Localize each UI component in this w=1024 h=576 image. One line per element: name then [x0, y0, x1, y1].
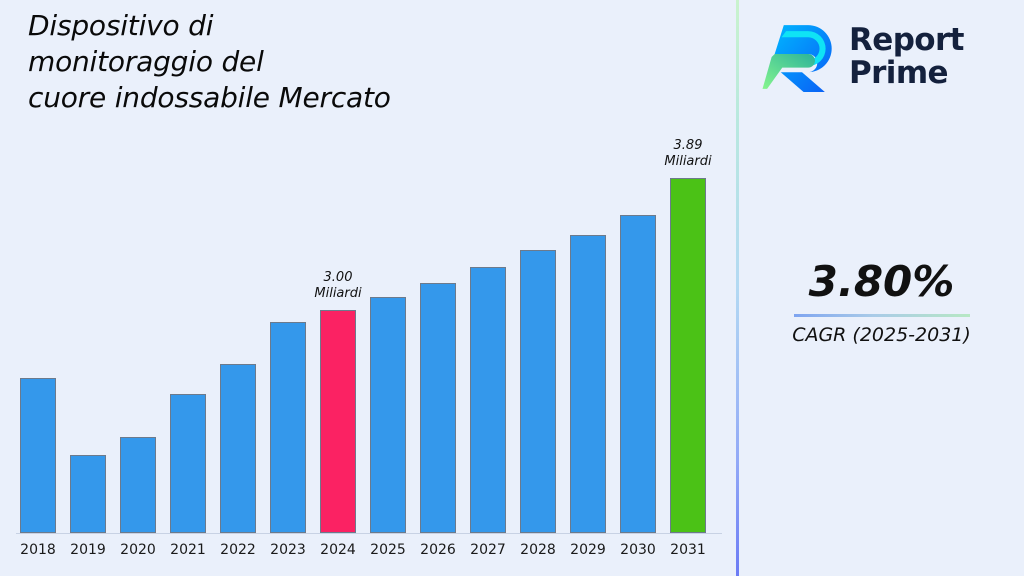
- bar-2022[interactable]: [220, 364, 256, 533]
- brand-logo: Report Prime: [761, 12, 1011, 102]
- bar-2031[interactable]: [670, 178, 706, 533]
- chart-screenshot: Dispositivo di monitoraggio del cuore in…: [0, 0, 1024, 576]
- side-panel: Report Prime 3.80% CAGR (2025-2031): [739, 0, 1024, 576]
- bar-2026[interactable]: [420, 283, 456, 533]
- x-axis-baseline: [16, 533, 722, 534]
- brand-name: Report Prime: [849, 24, 964, 90]
- bar-2023[interactable]: [270, 322, 306, 533]
- bar-2027[interactable]: [470, 267, 506, 533]
- bar-chart-plot-area: 2018201920202021202220233.00 Miliardi202…: [0, 0, 736, 576]
- chart-panel: Dispositivo di monitoraggio del cuore in…: [0, 0, 736, 576]
- bar-2018[interactable]: [20, 378, 56, 533]
- bar-2030[interactable]: [620, 215, 656, 533]
- x-tick-2031: 2031: [658, 542, 718, 558]
- bar-2019[interactable]: [70, 455, 106, 533]
- bar-2025[interactable]: [370, 297, 406, 533]
- bar-value-label-2031: 3.89 Miliardi: [633, 138, 743, 170]
- report-prime-logo-icon: [761, 19, 837, 95]
- bar-2024[interactable]: [320, 310, 356, 533]
- bar-2028[interactable]: [520, 250, 556, 533]
- bar-2020[interactable]: [120, 437, 156, 533]
- cagr-value: 3.80%: [739, 258, 1024, 306]
- cagr-caption: CAGR (2025-2031): [739, 323, 1024, 347]
- cagr-block: 3.80% CAGR (2025-2031): [739, 258, 1024, 347]
- cagr-divider-rule: [794, 314, 970, 317]
- bar-2021[interactable]: [170, 394, 206, 533]
- bar-2029[interactable]: [570, 235, 606, 533]
